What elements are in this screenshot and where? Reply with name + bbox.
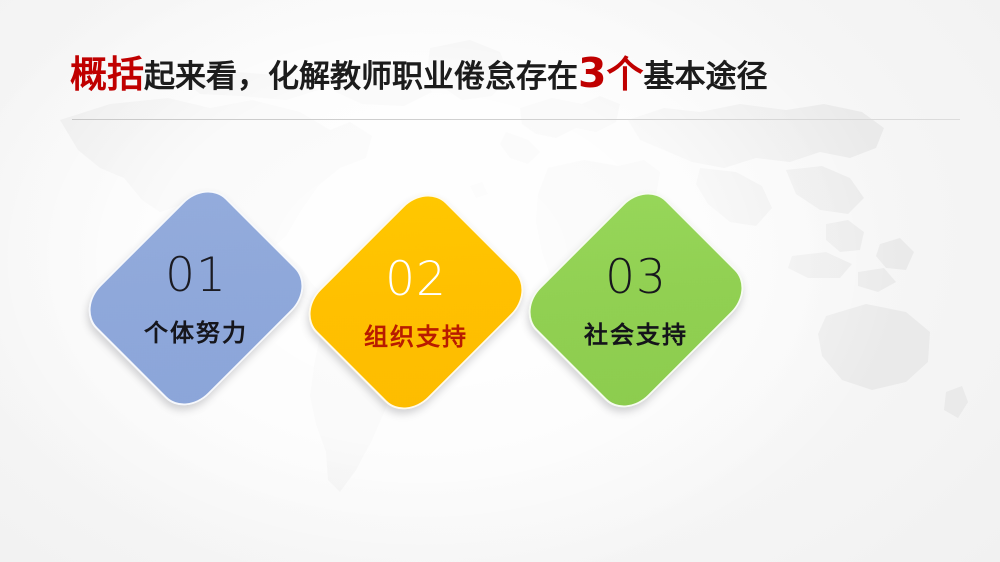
diamond-item-03[interactable]: 03 社会支持	[526, 168, 746, 432]
diamond-shape-01	[76, 178, 316, 418]
diamond-item-02[interactable]: 02 组织支持	[306, 170, 526, 434]
diamond-item-01[interactable]: 01 个体努力	[86, 166, 306, 430]
slide-canvas: 概括起来看，化解教师职业倦怠存在3个基本途径 01 个体努力 02 组织支持 0…	[0, 0, 1000, 562]
diamond-shape-03	[516, 180, 756, 420]
diamond-group: 01 个体努力 02 组织支持 03 社会支持	[0, 0, 1000, 562]
diamond-shape-02	[296, 182, 536, 422]
